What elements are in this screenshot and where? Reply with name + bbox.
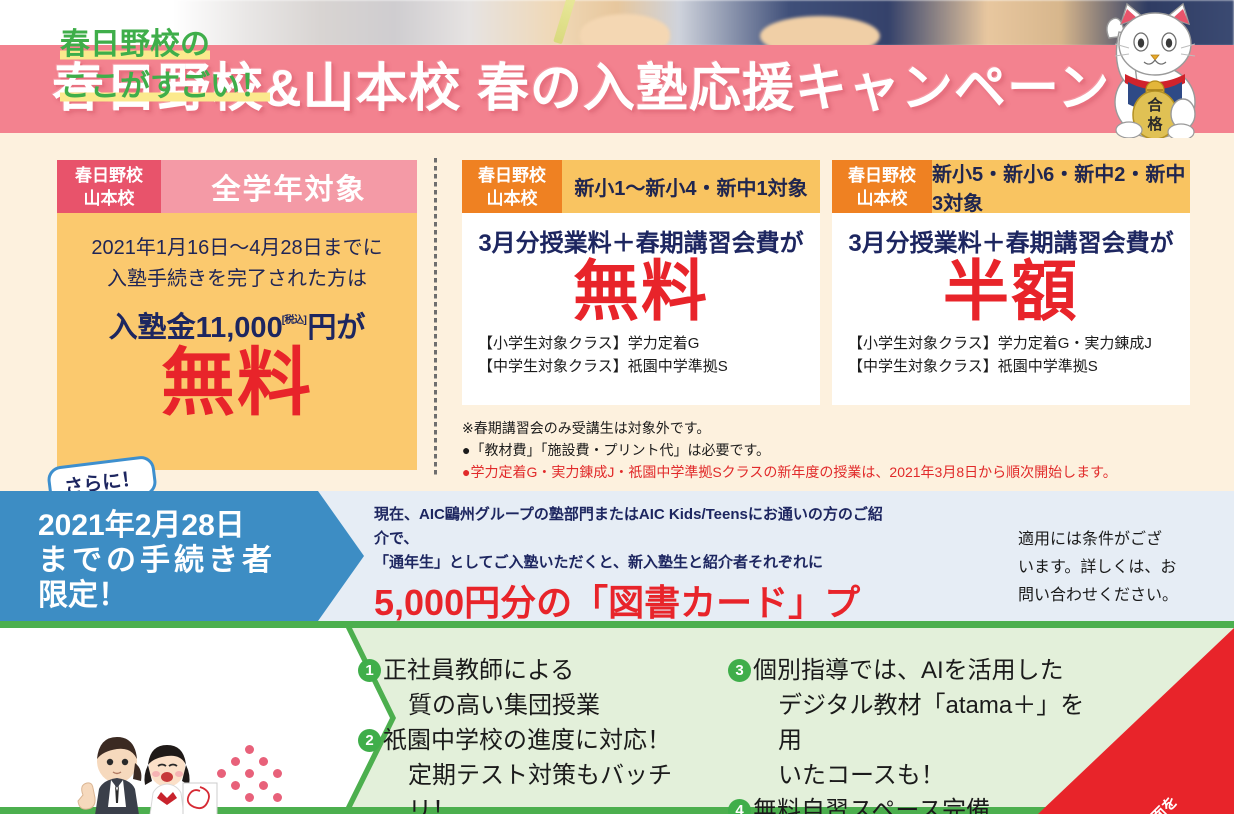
feature-line-1: 祇園中学校の進度に対応！ xyxy=(383,727,671,754)
deadline-arrow: 2021年2月28日 までの手続き者 限定！ xyxy=(0,491,364,621)
svg-text:格: 格 xyxy=(1147,115,1163,133)
feature-text: 祇園中学校の進度に対応！ 定期テスト対策もバッチリ！ xyxy=(383,723,708,814)
card-target-grades: 新小5・新小6・新中2・新中3対象 xyxy=(932,160,1190,213)
features-title-line-1: 春日野校の xyxy=(60,28,210,61)
class-note-elementary: 【小学生対象クラス】学力定着G・実力錬成J xyxy=(848,332,1190,355)
condition-line-2: います。詳しくは、お xyxy=(1018,554,1200,582)
feature-item: 2 祇園中学校の進度に対応！ 定期テスト対策もバッチリ！ xyxy=(358,723,708,814)
card-offer-word: 半額 xyxy=(832,256,1190,326)
period-line-1: 2021年1月16日〜4月28日までに xyxy=(91,233,382,264)
feature-text: 正社員教師による 質の高い集団授業 xyxy=(383,653,600,723)
offer-card-half: 春日野校 山本校 新小5・新小6・新中2・新中3対象 3月分授業料＋春期講習会費… xyxy=(832,160,1190,405)
school-tag-line2: 山本校 xyxy=(857,187,908,210)
class-note-junior: 【中学生対象クラス】祇園中学準拠S xyxy=(478,355,820,378)
panel-header: 春日野校 山本校 全学年対象 xyxy=(57,160,417,213)
feature-number: 1 xyxy=(358,659,381,682)
card-class-notes: 【小学生対象クラス】学力定着G・実力錬成J 【中学生対象クラス】祇園中学準拠S xyxy=(848,332,1190,378)
school-tag: 春日野校 山本校 xyxy=(57,160,161,213)
enrollment-fee: 入塾金11,000[税込]円が xyxy=(109,304,366,346)
dotted-arrow-decoration xyxy=(215,745,295,803)
referral-line-1: 現在、AIC鷗州グループの塾部門またはAIC Kids/Teensにお通いの方の… xyxy=(374,503,894,551)
green-divider-top xyxy=(0,621,1234,628)
svg-text:合: 合 xyxy=(1146,96,1163,114)
card-header: 春日野校 山本校 新小1〜新小4・新中1対象 xyxy=(462,160,820,213)
school-tag-line1: 春日野校 xyxy=(478,164,546,187)
tax-note: [税込] xyxy=(282,311,307,326)
condition-line-1: 適用には条件がござ xyxy=(1018,526,1200,554)
referral-banner: 2021年2月28日 までの手続き者 限定！ 現在、AIC鷗州グループの塾部門ま… xyxy=(0,491,1234,621)
school-tag: 春日野校 山本校 xyxy=(832,160,932,213)
vertical-dotted-divider xyxy=(434,158,437,476)
school-tag-line2: 山本校 xyxy=(84,187,135,210)
student-hand-left xyxy=(580,14,670,46)
maneki-neko-icon: 合 格 xyxy=(1095,2,1215,138)
condition-line-3: 問い合わせください。 xyxy=(1018,582,1200,610)
all-grades-offer-panel: 春日野校 山本校 全学年対象 2021年1月16日〜4月28日までに 入塾手続き… xyxy=(57,160,417,470)
feature-line-1: 無料自習スペース完備 xyxy=(753,797,990,814)
fee-amount: 入塾金11,000 xyxy=(109,304,283,346)
corner-ribbon: 講座詳細は裏面を ご覧ください xyxy=(1038,628,1234,814)
footnote-2: ●「教材費」「施設費・プリント代」は必要です。 xyxy=(462,439,1222,461)
school-tag: 春日野校 山本校 xyxy=(462,160,562,213)
card-offer-word: 無料 xyxy=(462,256,820,326)
fee-unit: 円 xyxy=(307,304,336,346)
deadline-line-2: までの手続き者 xyxy=(38,543,276,578)
flyer-page: 春日野校&山本校 春の入塾応援キャンペーン xyxy=(0,0,1234,814)
feature-item: 1 正社員教師による 質の高い集団授業 xyxy=(358,653,708,723)
feature-text: 無料自習スペース完備 xyxy=(753,793,990,814)
features-title-line-2: ここがすごい！ xyxy=(60,70,270,103)
card-subtitle: 3月分授業料＋春期講習会費が xyxy=(832,223,1190,258)
feature-number: 3 xyxy=(728,659,751,682)
referral-line-2: 「通年生」としてご入塾いただくと、新入塾生と紹介者それぞれに xyxy=(374,551,894,575)
school-tag-line1: 春日野校 xyxy=(848,164,916,187)
school-tag-line1: 春日野校 xyxy=(75,164,143,187)
feature-line-2: 定期テスト対策もバッチリ！ xyxy=(383,758,708,814)
footnote-3: ●学力定着G・実力錬成J・祇園中学準拠Sクラスの新年度の授業は、2021年3月8… xyxy=(462,461,1222,483)
panel-body: 2021年1月16日〜4月28日までに 入塾手続きを完了された方は 入塾金11,… xyxy=(57,213,417,470)
deadline-line-3: 限定！ xyxy=(38,578,276,613)
features-heading: 春日野校の ここがすごい！ xyxy=(60,24,340,108)
footnote-1: ※春期講習会のみ受講生は対象外です。 xyxy=(462,417,1222,439)
card-subtitle: 3月分授業料＋春期講習会費が xyxy=(462,223,820,258)
card-header: 春日野校 山本校 新小5・新小6・新中2・新中3対象 xyxy=(832,160,1190,213)
offer-card-free: 春日野校 山本校 新小1〜新小4・新中1対象 3月分授業料＋春期講習会費が 無料… xyxy=(462,160,820,405)
card-class-notes: 【小学生対象クラス】学力定着G 【中学生対象クラス】祇園中学準拠S xyxy=(478,332,820,378)
free-word: 無料 xyxy=(161,344,313,422)
deadline-text: 2021年2月28日 までの手続き者 限定！ xyxy=(38,508,276,613)
features-title: 春日野校の ここがすごい！ xyxy=(60,24,340,108)
feature-line-1: 個別指導では、AIを活用した xyxy=(753,657,1064,684)
footnotes: ※春期講習会のみ受講生は対象外です。 ●「教材費」「施設費・プリント代」は必要で… xyxy=(462,417,1222,483)
deadline-line-1: 2021年2月28日 xyxy=(38,508,276,543)
card-target-grades: 新小1〜新小4・新中1対象 xyxy=(562,160,820,213)
feature-number: 2 xyxy=(358,729,381,752)
class-note-elementary: 【小学生対象クラス】学力定着G xyxy=(478,332,820,355)
feature-line-2: 質の高い集団授業 xyxy=(383,688,600,723)
panel-title: 全学年対象 xyxy=(161,160,417,213)
fee-suffix: が xyxy=(336,304,365,346)
period-line-2: 入塾手続きを完了された方は xyxy=(107,264,367,295)
feature-number: 4 xyxy=(728,799,751,814)
features-column-left: 1 正社員教師による 質の高い集団授業 2 祇園中学校の進度に対応！ 定期テスト… xyxy=(358,653,708,814)
class-note-junior: 【中学生対象クラス】祇園中学準拠S xyxy=(848,355,1190,378)
school-tag-line2: 山本校 xyxy=(487,187,538,210)
students-illustration xyxy=(55,735,225,814)
referral-conditions-note: 適用には条件がござ います。詳しくは、お 問い合わせください。 xyxy=(1018,526,1200,610)
feature-line-1: 正社員教師による xyxy=(383,657,574,684)
